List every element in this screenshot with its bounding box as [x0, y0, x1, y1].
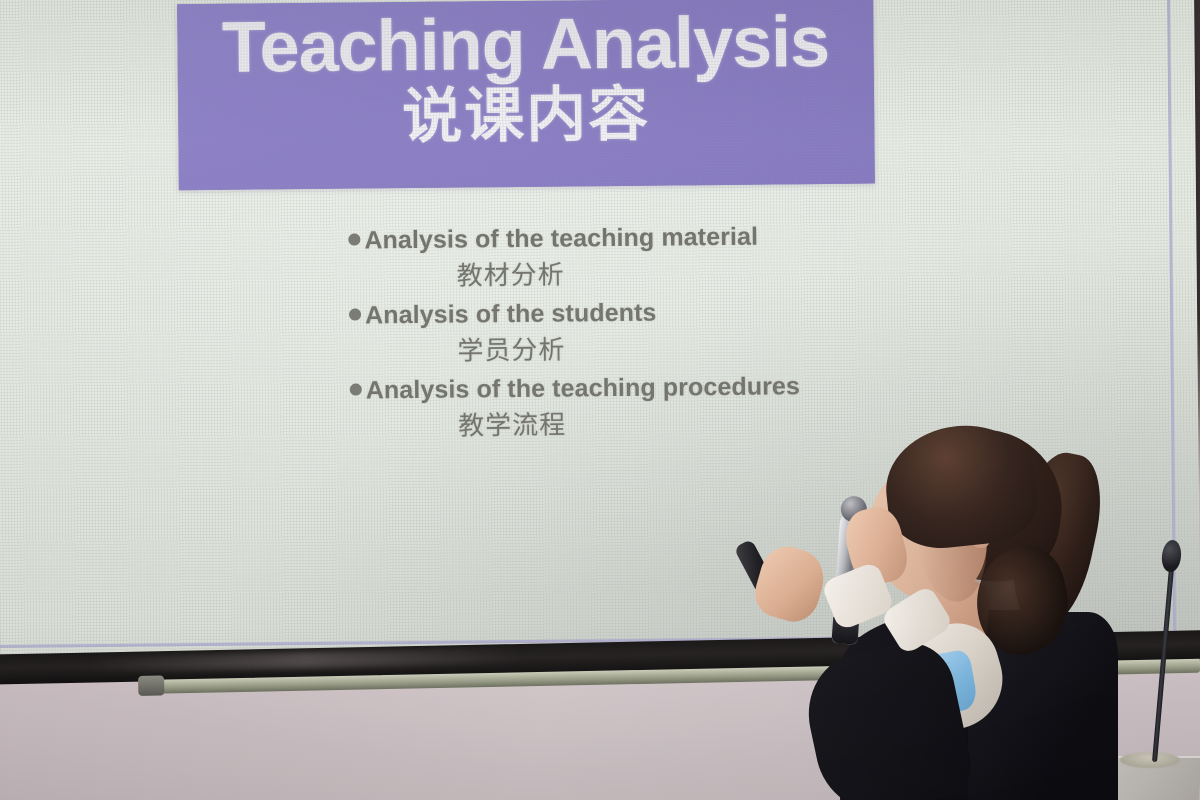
presenter-hand-holding-clicker — [749, 541, 830, 628]
bullet-text-english: Analysis of the teaching material — [364, 225, 758, 254]
bullet-text-chinese: 教材分析 — [457, 257, 989, 288]
slide-bullet-item: Analysis of the students — [349, 297, 989, 328]
slide-bullet-item: Analysis of the teaching procedures — [350, 372, 990, 403]
slide-title-english: Teaching Analysis — [222, 2, 830, 88]
bullet-text-english: Analysis of the students — [365, 301, 657, 329]
bullet-dot-icon — [348, 233, 360, 245]
bullet-dot-icon — [349, 308, 361, 320]
slide-title-chinese: 说课内容 — [402, 82, 651, 147]
screen-roller-end-cap — [138, 675, 164, 696]
presentation-photo-scene: Teaching Analysis 说课内容 Analysis of the t… — [0, 0, 1200, 800]
podium-microphone-base — [1120, 752, 1180, 768]
bullet-text-chinese: 学员分析 — [457, 332, 989, 363]
slide-title-banner: Teaching Analysis 说课内容 — [177, 0, 875, 190]
presenter — [720, 400, 1120, 800]
bullet-dot-icon — [350, 383, 362, 395]
slide-bullet-item: Analysis of the teaching material — [348, 222, 988, 253]
